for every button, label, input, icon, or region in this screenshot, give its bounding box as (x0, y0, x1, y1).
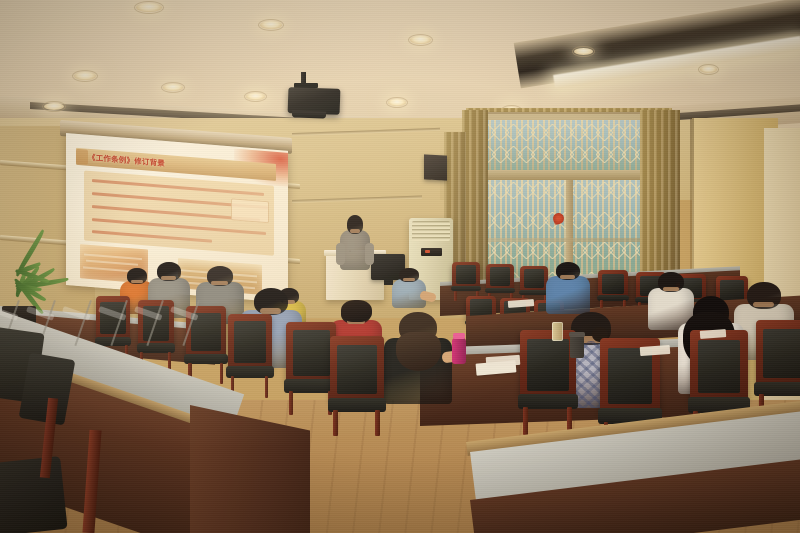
window-rail-mid (478, 238, 658, 242)
window-transom-rail (474, 170, 662, 180)
chair-front-9[interactable] (756, 320, 800, 408)
person-man-khaki-right-neck (753, 302, 774, 308)
chair-front-4-leg-l (289, 391, 293, 416)
chair-front-4-pad (293, 330, 330, 376)
person-woman-black-tee (384, 312, 452, 404)
ac-grille (412, 221, 450, 241)
chair-back-row-0-pad (456, 265, 477, 284)
person-presenter-neck (350, 229, 360, 233)
slide-number-badge (76, 149, 88, 165)
pink-water-bottle (452, 338, 466, 364)
chair-front-5-leg-l (333, 410, 337, 436)
chair-front-6-pad (527, 339, 568, 391)
pink-water-bottle-cap (453, 333, 465, 339)
chair-front-9-pad (763, 329, 800, 378)
slide-accent-box (231, 198, 269, 223)
bob-hair (341, 300, 371, 322)
person-man-grey-1-neck (161, 276, 176, 280)
person-note-taker-front (392, 268, 426, 308)
person-man-orange-neck (131, 280, 143, 283)
glass-tumbler (552, 322, 563, 341)
downlight-ring-0 (134, 1, 164, 14)
conference-room-photo: 《工作条例》修订背景 (0, 0, 800, 533)
wall-speaker-icon (424, 154, 447, 180)
downlight-ring-4 (698, 64, 719, 75)
presenter-arm-l (336, 243, 345, 265)
downlight-ring-8 (386, 97, 408, 108)
downlight-ring-7 (244, 91, 267, 102)
chair-front-8-pad (698, 340, 741, 394)
ac-status-led (425, 250, 430, 253)
chair-front-3[interactable] (228, 314, 272, 388)
person-man-grey-2-neck (211, 281, 228, 285)
chair-back-row-2-pad (524, 269, 545, 288)
chair-front-5[interactable] (330, 336, 384, 424)
chair-back-row-2[interactable] (520, 266, 548, 300)
chair-bl-foreground[interactable] (0, 456, 68, 533)
person-man-blue-stripe (546, 262, 590, 314)
chair-back-row-1-pad (490, 267, 511, 286)
chair-back-row-3-pad (602, 274, 624, 294)
ponytail (396, 332, 441, 371)
person-man-blue-stripe-neck (560, 275, 575, 279)
person-man-blue-stripe-torso (546, 276, 590, 314)
downlight-ring-2 (408, 34, 433, 46)
downlight-ring-10 (42, 101, 66, 112)
window-glass-transom (478, 120, 658, 172)
window-grille-top (478, 120, 658, 172)
chair-back-row-0[interactable] (452, 262, 480, 296)
chair-back-row-3[interactable] (598, 270, 628, 306)
chair-front-6-leg-l (523, 407, 527, 435)
downlight-ring-6 (161, 82, 185, 93)
projector-lens (292, 110, 326, 118)
chair-front-5-pad (337, 345, 377, 394)
chair-front-3-pad (234, 321, 267, 362)
chair-back-row-0-leg-l (454, 291, 457, 301)
chair-front-3-leg-r (265, 376, 269, 398)
chair-front-5-leg-r (375, 410, 379, 436)
person-man-white-tee-neck (663, 287, 679, 291)
travel-mug-lid (569, 332, 585, 337)
person-presenter (340, 215, 370, 270)
downlight-ring-5 (72, 70, 98, 82)
person-note-taker-front-neck (403, 278, 415, 281)
chair-front-6[interactable] (520, 330, 576, 422)
chair-front-2-leg-r (220, 363, 223, 383)
chair-back-row-1[interactable] (486, 264, 514, 298)
travel-mug (570, 336, 584, 358)
chair-front-7-pad (608, 348, 652, 404)
downlight-ring-3 (572, 46, 595, 57)
presenter-arm-r (365, 243, 374, 265)
downlight-ring-1 (258, 19, 284, 31)
chair-front-4[interactable] (286, 322, 336, 404)
